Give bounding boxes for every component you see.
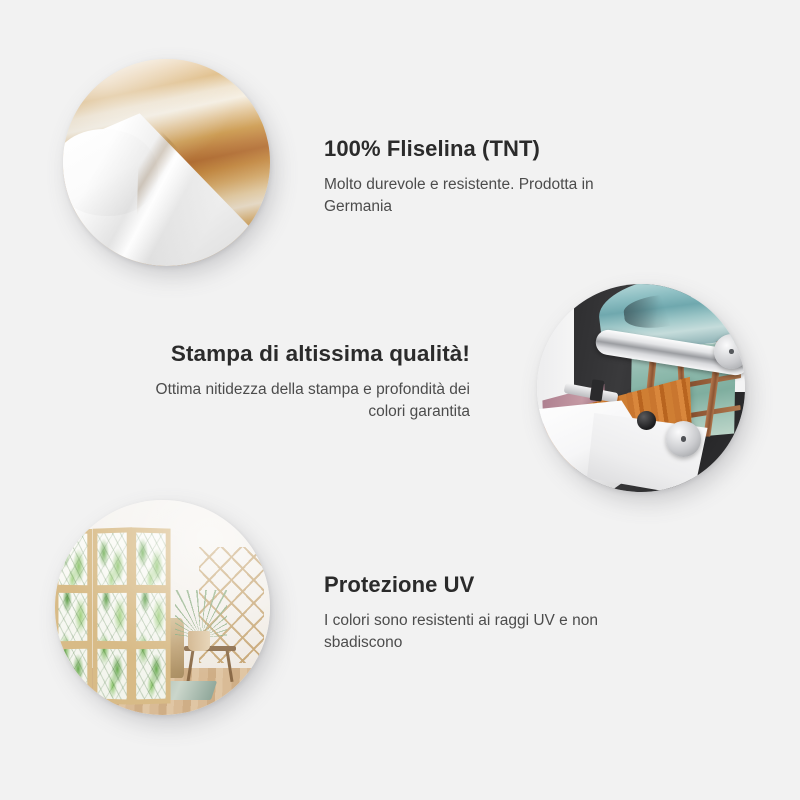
features-stage: 100% Fliselina (TNT) Molto durevole e re… bbox=[0, 0, 800, 800]
feature-image-fliselina bbox=[63, 59, 270, 266]
room-divider-tropical-leaves-icon bbox=[55, 500, 270, 715]
room-light-haze bbox=[55, 500, 270, 715]
feature-body-fliselina: Molto durevole e resistente. Prodotta in… bbox=[324, 174, 664, 218]
feature-text-protezione-uv: Protezione UV I colori sono resistenti a… bbox=[324, 572, 664, 654]
printer-roller-cap bbox=[714, 334, 745, 369]
wallpaper-roll-peeled-corner-icon bbox=[63, 59, 270, 266]
printer-wheel bbox=[666, 421, 701, 456]
large-format-printer-icon bbox=[537, 284, 745, 492]
printer-knob bbox=[637, 411, 656, 430]
feature-heading-stampa-qualita: Stampa di altissima qualità! bbox=[130, 341, 470, 367]
feature-heading-protezione-uv: Protezione UV bbox=[324, 572, 664, 598]
feature-text-stampa-qualita: Stampa di altissima qualità! Ottima niti… bbox=[130, 341, 470, 423]
feature-body-stampa-qualita: Ottima nitidezza della stampa e profondi… bbox=[130, 379, 470, 423]
feature-heading-fliselina: 100% Fliselina (TNT) bbox=[324, 136, 664, 162]
feature-image-stampa-qualita bbox=[537, 284, 745, 492]
feature-image-protezione-uv bbox=[55, 500, 270, 715]
feature-body-protezione-uv: I colori sono resistenti ai raggi UV e n… bbox=[324, 610, 664, 654]
feature-text-fliselina: 100% Fliselina (TNT) Molto durevole e re… bbox=[324, 136, 664, 218]
